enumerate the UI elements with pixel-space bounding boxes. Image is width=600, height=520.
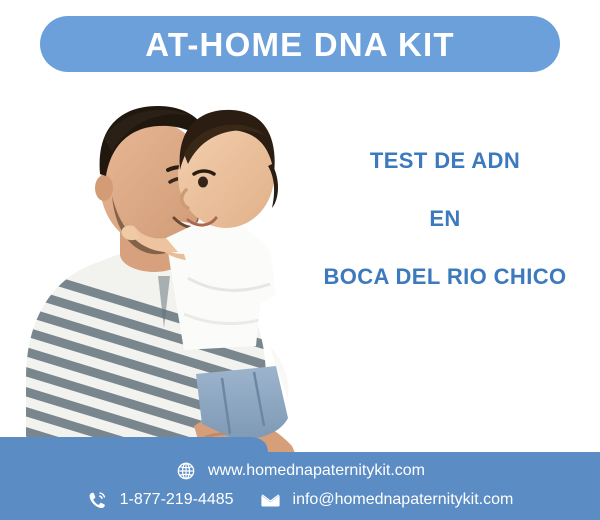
globe-icon bbox=[175, 460, 197, 482]
phone-icon bbox=[87, 489, 109, 511]
footer-bar: www.homednapaternitykit.com 1-877-219-44… bbox=[0, 437, 600, 520]
contact-email[interactable]: info@homednapaternitykit.com bbox=[260, 489, 514, 511]
headline-line-1: TEST DE ADN bbox=[300, 150, 590, 172]
footer-contacts: www.homednapaternitykit.com 1-877-219-44… bbox=[0, 437, 600, 520]
family-photo bbox=[8, 78, 318, 460]
header-badge-label: AT-HOME DNA KIT bbox=[145, 28, 454, 61]
email-label: info@homednapaternitykit.com bbox=[293, 492, 514, 508]
footer-row-phone-email: 1-877-219-4485 info@homednapaternitykit.… bbox=[87, 489, 514, 511]
header-badge: AT-HOME DNA KIT bbox=[40, 16, 560, 72]
headline-line-2: EN bbox=[300, 208, 590, 230]
headline-line-3: BOCA DEL RIO CHICO bbox=[300, 266, 590, 288]
footer-row-website: www.homednapaternitykit.com bbox=[175, 460, 425, 482]
contact-website[interactable]: www.homednapaternitykit.com bbox=[175, 460, 425, 482]
website-label: www.homednapaternitykit.com bbox=[208, 463, 425, 479]
phone-label: 1-877-219-4485 bbox=[120, 492, 234, 508]
headline-block: TEST DE ADN EN BOCA DEL RIO CHICO bbox=[300, 150, 590, 288]
envelope-icon bbox=[260, 489, 282, 511]
contact-phone[interactable]: 1-877-219-4485 bbox=[87, 489, 234, 511]
poster-canvas: AT-HOME DNA KIT bbox=[0, 0, 600, 520]
